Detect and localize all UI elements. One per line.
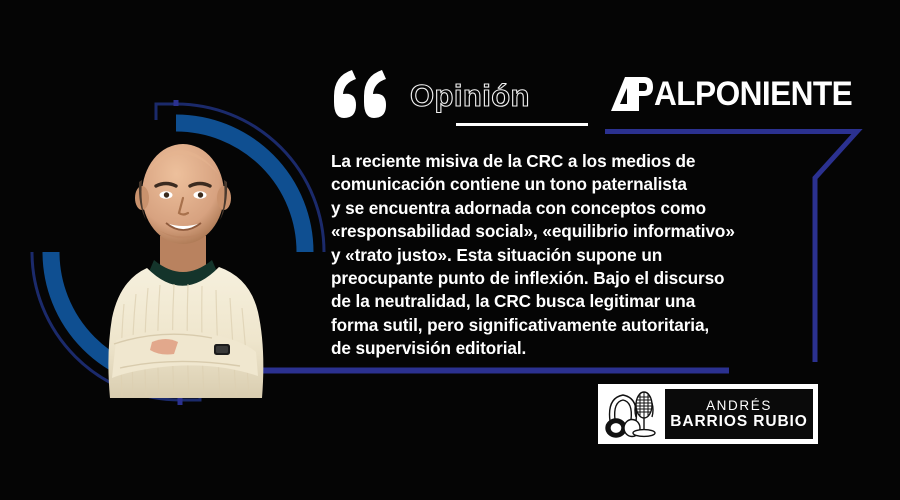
article-line: y se encuentra adornada con conceptos co…	[331, 197, 811, 220]
ap-monogram-icon	[608, 74, 654, 114]
article-line: «responsabilidad social», «equilibrio in…	[331, 220, 811, 243]
article-line: y «trato justo». Esta situación supone u…	[331, 244, 811, 267]
quotation-mark-icon	[330, 68, 392, 120]
article-line: La reciente misiva de la CRC a los medio…	[331, 150, 811, 173]
author-first-name: ANDRÉS	[706, 399, 772, 413]
article-line: preocupante punto de inflexión. Bajo el …	[331, 267, 811, 290]
brand-name: ALPONIENTE	[654, 77, 852, 111]
article-line: comunicación contiene un tono paternalis…	[331, 173, 811, 196]
portrait-block	[28, 100, 328, 405]
header: Opinión ALPONIENTE	[330, 72, 860, 134]
article-line: forma sutil, pero significativamente aut…	[331, 314, 811, 337]
section-label-underline	[456, 123, 588, 126]
author-badge[interactable]: ANDRÉS BARRIOS RUBIO	[598, 384, 818, 444]
article-body: La reciente misiva de la CRC a los medio…	[331, 150, 811, 361]
brand-logo[interactable]: ALPONIENTE	[608, 74, 867, 114]
author-last-name: BARRIOS RUBIO	[670, 414, 807, 430]
arc-top-tick	[156, 104, 176, 120]
article-line: de supervisión editorial.	[331, 337, 811, 360]
opinion-quote-card: Opinión ALPONIENTE La reciente misiva de…	[0, 0, 900, 500]
section-label: Opinión	[410, 78, 530, 114]
author-portrait	[90, 128, 276, 398]
author-name-box: ANDRÉS BARRIOS RUBIO	[663, 387, 815, 441]
headphones-microphone-icon	[601, 387, 663, 441]
article-line: de la neutralidad, la CRC busca legitima…	[331, 290, 811, 313]
